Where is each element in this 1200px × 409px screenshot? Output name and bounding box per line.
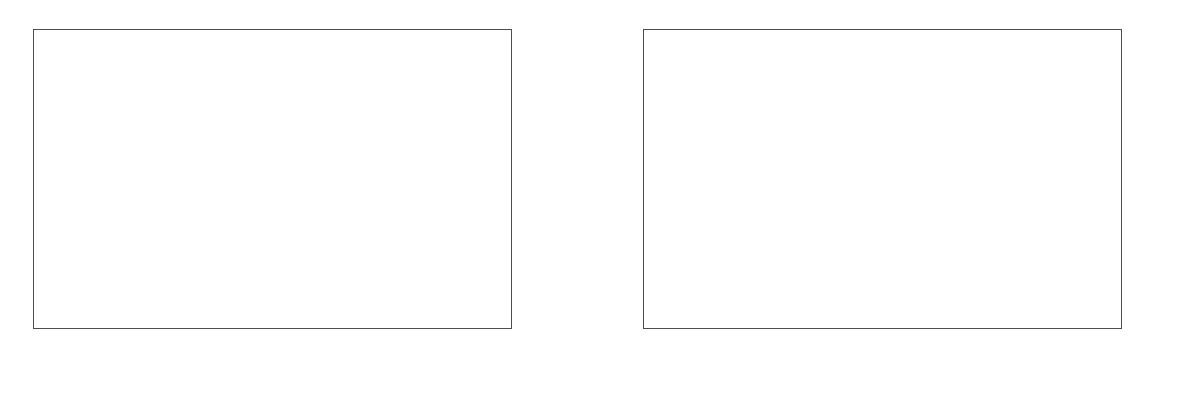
right-x-axis: [643, 329, 1122, 359]
left-y-axis: [0, 29, 33, 329]
panel-bias: [600, 0, 1200, 409]
figure-root: [0, 0, 1200, 409]
right-map-plot[interactable]: [643, 29, 1122, 329]
left-map-plot[interactable]: [33, 29, 512, 329]
left-x-axis: [33, 329, 512, 359]
left-colorbar-gradient: [524, 29, 535, 314]
right-colorbar-gradient: [1124, 29, 1135, 314]
right-y-axis: [610, 29, 643, 329]
panel-model: [0, 0, 600, 409]
